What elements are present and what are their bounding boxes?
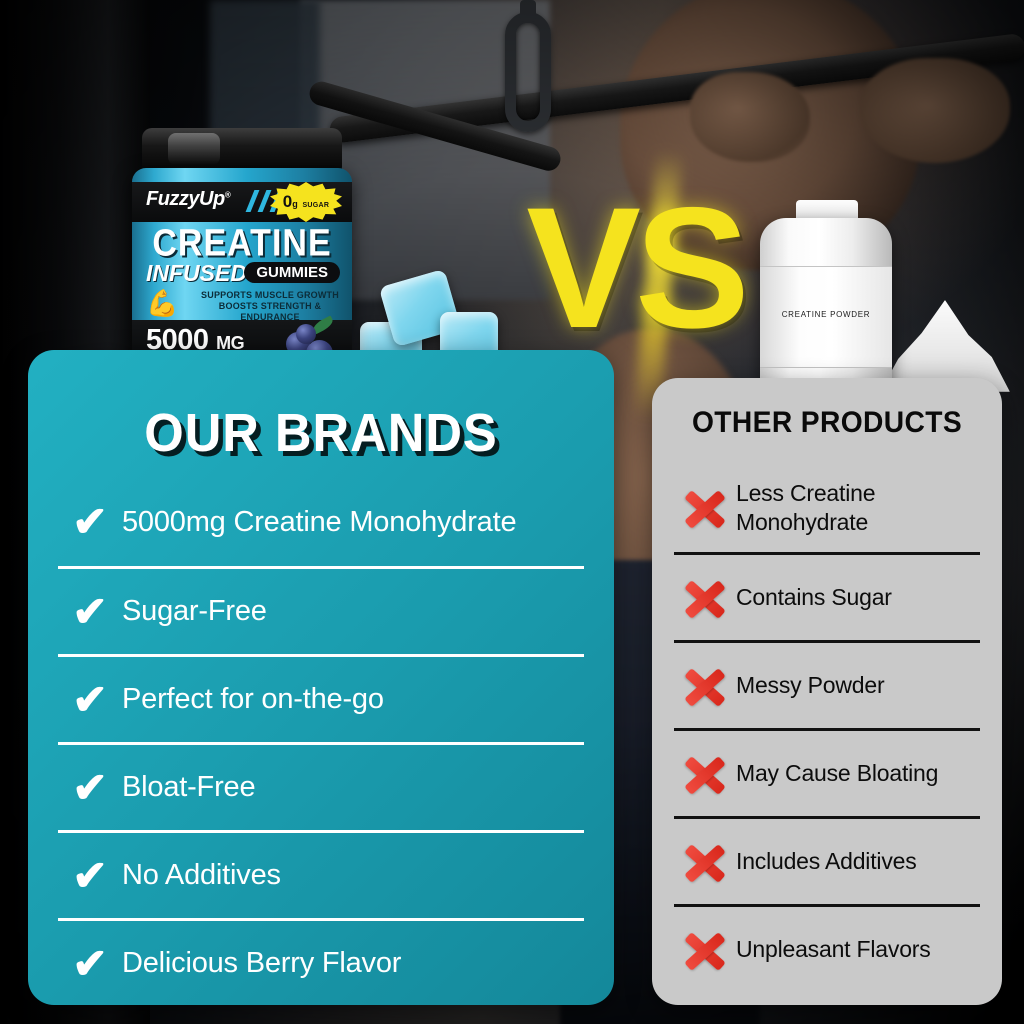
- list-item: Unpleasant Flavors: [674, 904, 980, 992]
- list-item: Contains Sugar: [674, 552, 980, 640]
- check-icon: ✔: [58, 855, 122, 897]
- vs-label: VS: [525, 175, 745, 365]
- trademark-symbol: ®: [225, 190, 230, 199]
- list-item-label: Perfect for on-the-go: [122, 683, 384, 716]
- list-item: Messy Powder: [674, 640, 980, 728]
- sugar-badge-value: 0: [283, 192, 292, 211]
- list-item-label: Sugar-Free: [122, 595, 267, 628]
- product-subname: INFUSED: [146, 260, 247, 287]
- our-brands-list: ✔ 5000mg Creatine Monohydrate ✔ Sugar-Fr…: [58, 478, 584, 1006]
- flexed-bicep-icon: 💪: [146, 288, 180, 318]
- list-item-label: Messy Powder: [736, 671, 884, 700]
- list-item-label: Less Creatine Monohydrate: [736, 479, 980, 537]
- check-icon: ✔: [58, 591, 122, 633]
- list-item: ✔ Perfect for on-the-go: [58, 654, 584, 742]
- check-icon: ✔: [58, 767, 122, 809]
- cross-icon: [674, 748, 736, 800]
- comparison-infographic: CREATINE POWDER VS FuzzyUp® 0g SUGAR CRE…: [0, 0, 1024, 1024]
- list-item: ✔ Bloat-Free: [58, 742, 584, 830]
- list-item-label: 5000mg Creatine Monohydrate: [122, 506, 516, 539]
- cross-icon: [674, 836, 736, 888]
- competitor-bottle-body: CREATINE POWDER: [760, 218, 892, 390]
- list-item-label: No Additives: [122, 859, 281, 892]
- check-icon: ✔: [58, 679, 122, 721]
- list-item: Less Creatine Monohydrate: [674, 464, 980, 552]
- brand-text: FuzzyUp: [146, 188, 225, 210]
- check-icon: ✔: [58, 501, 122, 543]
- cross-icon: [674, 482, 736, 534]
- list-item-label: Contains Sugar: [736, 583, 892, 612]
- competitor-label-text: CREATINE POWDER: [760, 310, 892, 319]
- other-products-title: OTHER PRODUCTS: [663, 406, 992, 440]
- cross-icon: [674, 660, 736, 712]
- list-item: ✔ No Additives: [58, 830, 584, 918]
- list-item-label: Delicious Berry Flavor: [122, 947, 401, 980]
- list-item: ✔ Sugar-Free: [58, 566, 584, 654]
- check-icon: ✔: [58, 943, 122, 985]
- other-products-panel: OTHER PRODUCTS Less Creatine Monohydrate…: [652, 378, 1002, 1005]
- our-brands-title: OUR BRANDS: [46, 402, 597, 464]
- product-name: CREATINE: [132, 222, 352, 266]
- claim-line-1: SUPPORTS MUSCLE GROWTH: [190, 290, 350, 301]
- list-item-label: Bloat-Free: [122, 771, 255, 804]
- list-item-label: May Cause Bloating: [736, 759, 938, 788]
- brand-name: FuzzyUp®: [146, 188, 230, 211]
- other-products-list: Less Creatine Monohydrate Contains Sugar…: [674, 464, 980, 992]
- list-item-label: Includes Additives: [736, 847, 917, 876]
- our-brands-panel: OUR BRANDS ✔ 5000mg Creatine Monohydrate…: [28, 350, 614, 1005]
- cross-icon: [674, 924, 736, 976]
- list-item: May Cause Bloating: [674, 728, 980, 816]
- bottle-cap-highlight: [168, 133, 220, 165]
- cross-icon: [674, 572, 736, 624]
- list-item: Includes Additives: [674, 816, 980, 904]
- product-subname-row: INFUSED GUMMIES: [132, 260, 352, 286]
- sugar-badge-unit: g: [292, 199, 298, 209]
- sugar-badge-label: SUGAR: [302, 202, 329, 209]
- product-form-badge: GUMMIES: [244, 262, 340, 283]
- competitor-bottle: CREATINE POWDER: [760, 200, 892, 390]
- bottle-cap: [142, 128, 342, 172]
- list-item-label: Unpleasant Flavors: [736, 935, 931, 964]
- list-item: ✔ Delicious Berry Flavor: [58, 918, 584, 1006]
- list-item: ✔ 5000mg Creatine Monohydrate: [58, 478, 584, 566]
